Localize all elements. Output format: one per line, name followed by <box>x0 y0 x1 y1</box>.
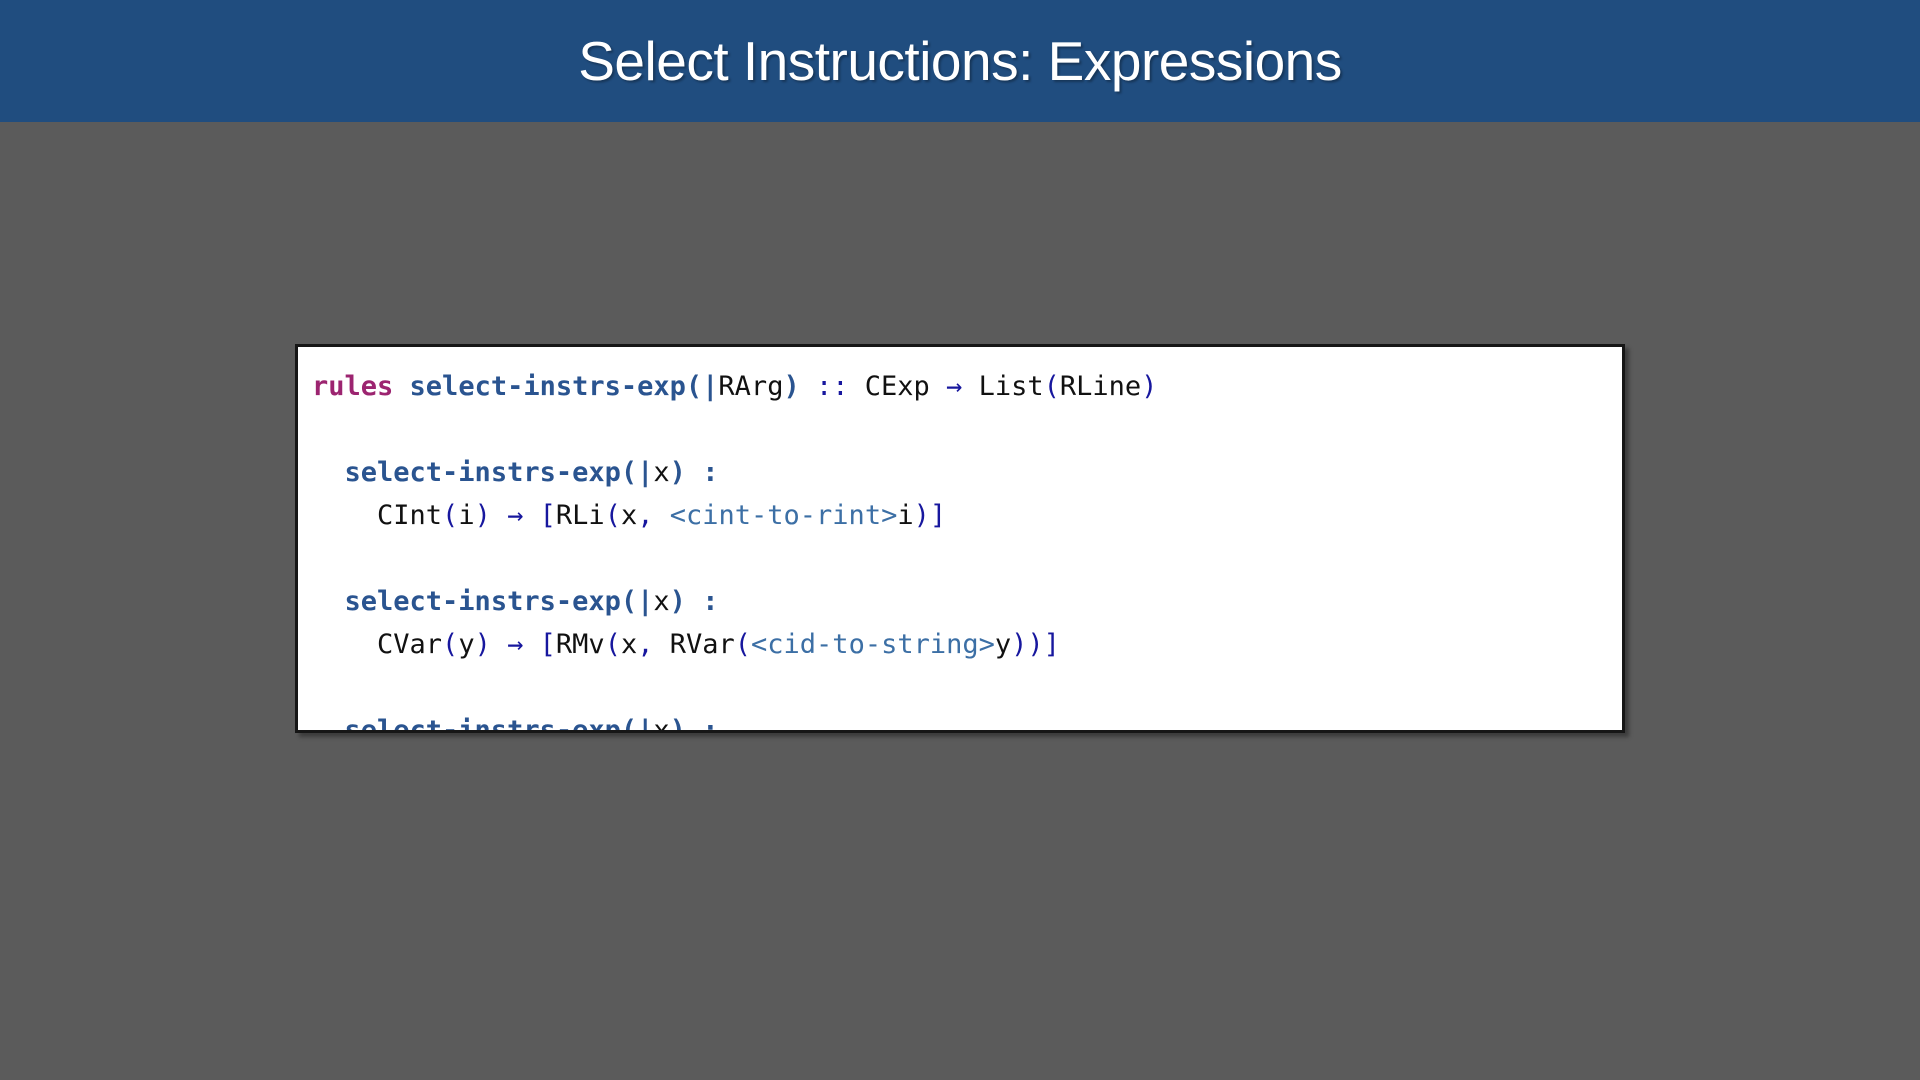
code-token: | <box>702 371 718 402</box>
code-line-rule-3-head: select-instrs-exp(|x) : <box>312 709 1622 733</box>
code-token: ( <box>735 629 751 660</box>
code-card: rules select-instrs-exp(|RArg) :: CExp →… <box>295 344 1625 733</box>
code-token: )] <box>914 500 947 531</box>
code-token: ) <box>475 500 491 531</box>
code-token: ))] <box>1011 629 1060 660</box>
code-token: <cint-to-rint> <box>670 500 898 531</box>
code-token: x <box>653 457 669 488</box>
code-token <box>312 586 345 617</box>
code-token <box>491 500 507 531</box>
code-token: <cid-to-string> <box>751 629 995 660</box>
code-token: x <box>653 586 669 617</box>
code-token: RArg <box>718 371 783 402</box>
code-token: List <box>962 371 1043 402</box>
code-token: [ <box>540 500 556 531</box>
code-token <box>523 500 539 531</box>
code-token: ) <box>670 457 686 488</box>
code-token <box>800 371 816 402</box>
code-block: rules select-instrs-exp(|RArg) :: CExp →… <box>298 365 1622 733</box>
code-token: RVar <box>653 629 734 660</box>
code-token <box>393 371 409 402</box>
code-token <box>523 629 539 660</box>
code-token: :: <box>816 371 849 402</box>
code-token: select-instrs-exp( <box>345 457 638 488</box>
code-line-signature: rules select-instrs-exp(|RArg) :: CExp →… <box>312 365 1622 408</box>
code-token <box>653 500 669 531</box>
code-token: ( <box>605 500 621 531</box>
code-token: i <box>897 500 913 531</box>
code-line-blank-3 <box>312 666 1622 709</box>
code-line-blank-1 <box>312 408 1622 451</box>
code-token: | <box>637 715 653 733</box>
code-token: : <box>702 715 718 733</box>
code-token: select-instrs-exp( <box>345 715 638 733</box>
code-line-rule-1-head: select-instrs-exp(|x) : <box>312 451 1622 494</box>
code-token: x <box>621 500 637 531</box>
code-token: ) <box>783 371 799 402</box>
code-token: ) <box>475 629 491 660</box>
code-token: → <box>507 500 523 531</box>
code-token: , <box>637 629 653 660</box>
code-token: : <box>702 457 718 488</box>
slide-body: rules select-instrs-exp(|RArg) :: CExp →… <box>0 122 1920 1080</box>
code-token <box>686 715 702 733</box>
code-token <box>491 629 507 660</box>
code-token: RMv <box>556 629 605 660</box>
code-token: ( <box>442 500 458 531</box>
code-token: RLine <box>1060 371 1141 402</box>
code-token <box>686 457 702 488</box>
code-line-blank-2 <box>312 537 1622 580</box>
code-token: ) <box>1141 371 1157 402</box>
code-token: y <box>995 629 1011 660</box>
code-token: CVar <box>312 629 442 660</box>
code-token: y <box>458 629 474 660</box>
code-token: x <box>621 629 637 660</box>
code-line-rule-2-head: select-instrs-exp(|x) : <box>312 580 1622 623</box>
code-token: i <box>458 500 474 531</box>
code-token: CExp <box>849 371 947 402</box>
code-line-rule-2-body: CVar(y) → [RMv(x, RVar(<cid-to-string>y)… <box>312 623 1622 666</box>
code-token: , <box>637 500 653 531</box>
code-token: [ <box>540 629 556 660</box>
code-token: : <box>702 586 718 617</box>
slide-title: Select Instructions: Expressions <box>578 34 1342 89</box>
code-token <box>312 457 345 488</box>
code-token: CInt <box>312 500 442 531</box>
code-token: ( <box>1044 371 1060 402</box>
code-token <box>686 586 702 617</box>
code-token: | <box>637 586 653 617</box>
code-token: ) <box>670 586 686 617</box>
code-token: RLi <box>556 500 605 531</box>
slide-header-bar: Select Instructions: Expressions <box>0 0 1920 122</box>
code-token: ) <box>670 715 686 733</box>
code-token: select-instrs-exp( <box>345 586 638 617</box>
code-token: → <box>946 371 962 402</box>
code-token: select-instrs-exp( <box>410 371 703 402</box>
code-token: rules <box>312 371 393 402</box>
code-line-rule-1-body: CInt(i) → [RLi(x, <cint-to-rint>i)] <box>312 494 1622 537</box>
code-token: x <box>653 715 669 733</box>
code-token: → <box>507 629 523 660</box>
code-token: ( <box>605 629 621 660</box>
code-token: ( <box>442 629 458 660</box>
code-token: | <box>637 457 653 488</box>
code-token <box>312 715 345 733</box>
